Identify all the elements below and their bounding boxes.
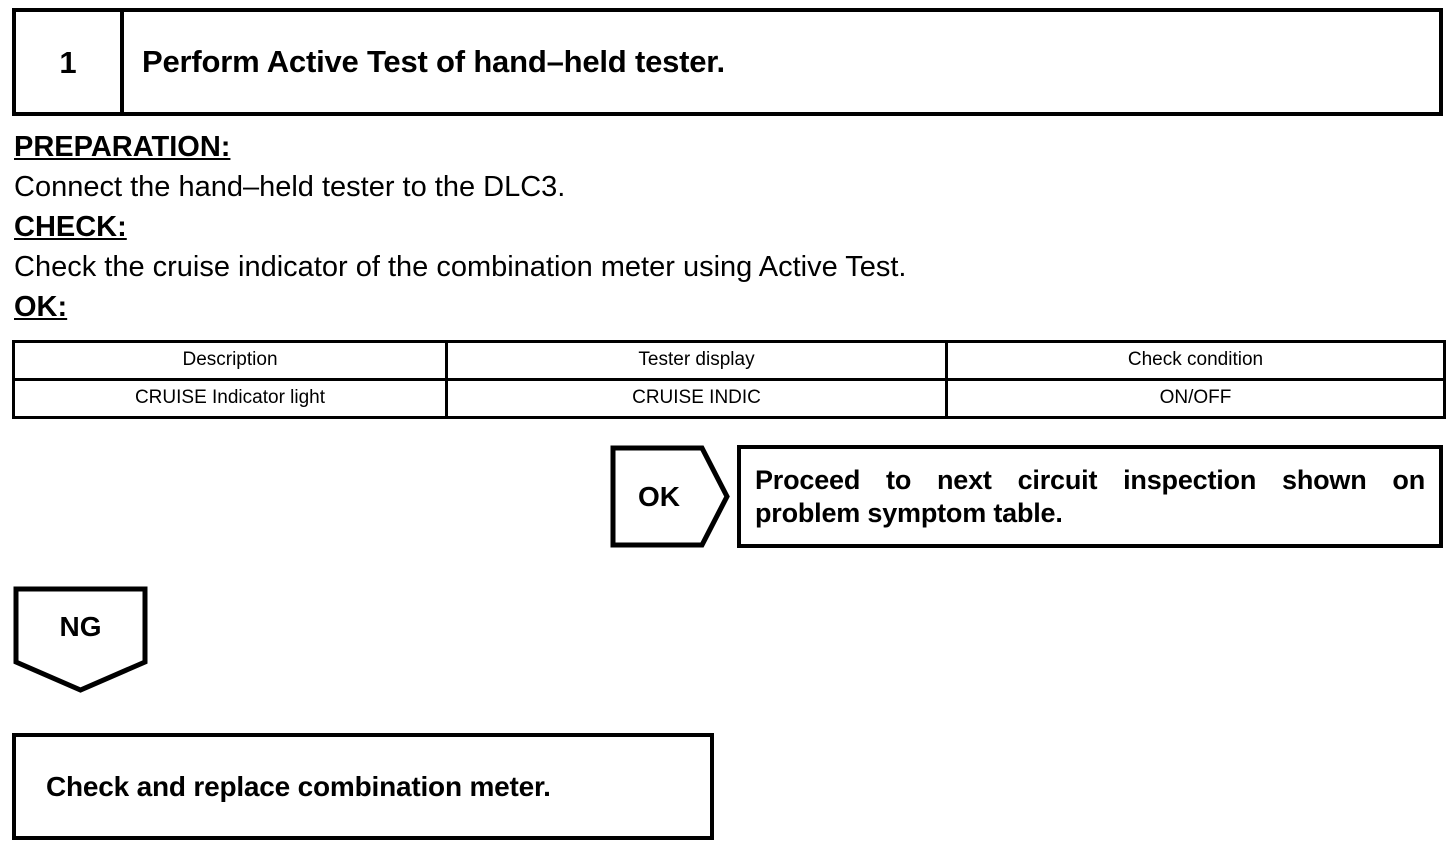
table-cell: ON/OFF <box>947 380 1445 418</box>
ng-branch-arrow-icon <box>13 586 148 693</box>
table-row: CRUISE Indicator light CRUISE INDIC ON/O… <box>14 380 1445 418</box>
check-text: Check the cruise indicator of the combin… <box>14 247 1434 287</box>
preparation-heading: PREPARATION: <box>14 127 230 167</box>
spec-table: Description Tester display Check conditi… <box>12 340 1446 419</box>
step-number: 1 <box>59 47 76 78</box>
ok-heading-row: OK: <box>14 287 1434 327</box>
table-header-cell: Check condition <box>947 342 1445 380</box>
step-number-cell: 1 <box>16 12 124 112</box>
table-header-row: Description Tester display Check conditi… <box>14 342 1445 380</box>
ok-branch-arrow-icon <box>610 445 730 548</box>
table-cell: CRUISE INDIC <box>447 380 947 418</box>
preparation-heading-row: PREPARATION: <box>14 127 1434 167</box>
table-header-cell: Description <box>14 342 447 380</box>
ok-result-box: Proceed to next circuit inspection shown… <box>737 445 1443 548</box>
ok-heading: OK: <box>14 287 67 327</box>
table-cell: CRUISE Indicator light <box>14 380 447 418</box>
preparation-text: Connect the hand–held tester to the DLC3… <box>14 167 1434 207</box>
step-title: Perform Active Test of hand–held tester. <box>142 45 725 79</box>
step-header-box: 1 Perform Active Test of hand–held teste… <box>12 8 1443 116</box>
ok-result-line-2: problem symptom table. <box>755 497 1425 530</box>
ng-action-box: Check and replace combination meter. <box>12 733 714 840</box>
table-header-cell: Tester display <box>447 342 947 380</box>
step-title-cell: Perform Active Test of hand–held tester. <box>124 12 1439 112</box>
ok-result-line-1: Proceed to next circuit inspection shown… <box>755 464 1425 497</box>
ng-action-text: Check and replace combination meter. <box>46 770 551 804</box>
check-heading: CHECK: <box>14 207 127 247</box>
instruction-block: PREPARATION: Connect the hand–held teste… <box>14 127 1434 327</box>
check-heading-row: CHECK: <box>14 207 1434 247</box>
